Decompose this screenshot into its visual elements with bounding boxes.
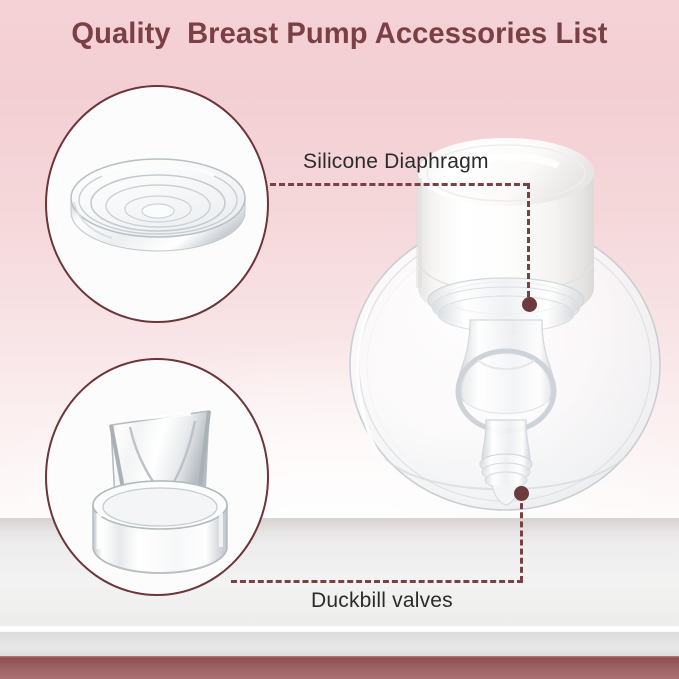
shelf-front-edge	[0, 632, 679, 659]
callout-label-duckbill-valves: Duckbill valves	[311, 589, 453, 613]
infographic-canvas: Quality Breast Pump Accessories List	[0, 0, 679, 679]
silicone-diaphragm-art	[68, 150, 248, 270]
leader-line-vertical-bottom	[520, 494, 523, 582]
leader-dot-duckbill-valves	[514, 486, 529, 501]
duckbill-base-top-inner	[103, 488, 217, 526]
callout-label-silicone-diaphragm: Silicone Diaphragm	[303, 150, 489, 174]
leader-line-horizontal-bottom	[231, 580, 523, 583]
diaphragm-center-nub	[142, 204, 174, 218]
leader-line-horizontal-top	[270, 183, 529, 186]
floor-band	[0, 659, 679, 679]
leader-line-vertical-top	[527, 183, 530, 297]
duckbill-valve-art	[75, 385, 245, 575]
leader-dot-silicone-diaphragm	[522, 297, 537, 312]
diaphragm-outer-rim	[71, 159, 245, 237]
page-title: Quality Breast Pump Accessories List	[10, 17, 669, 51]
